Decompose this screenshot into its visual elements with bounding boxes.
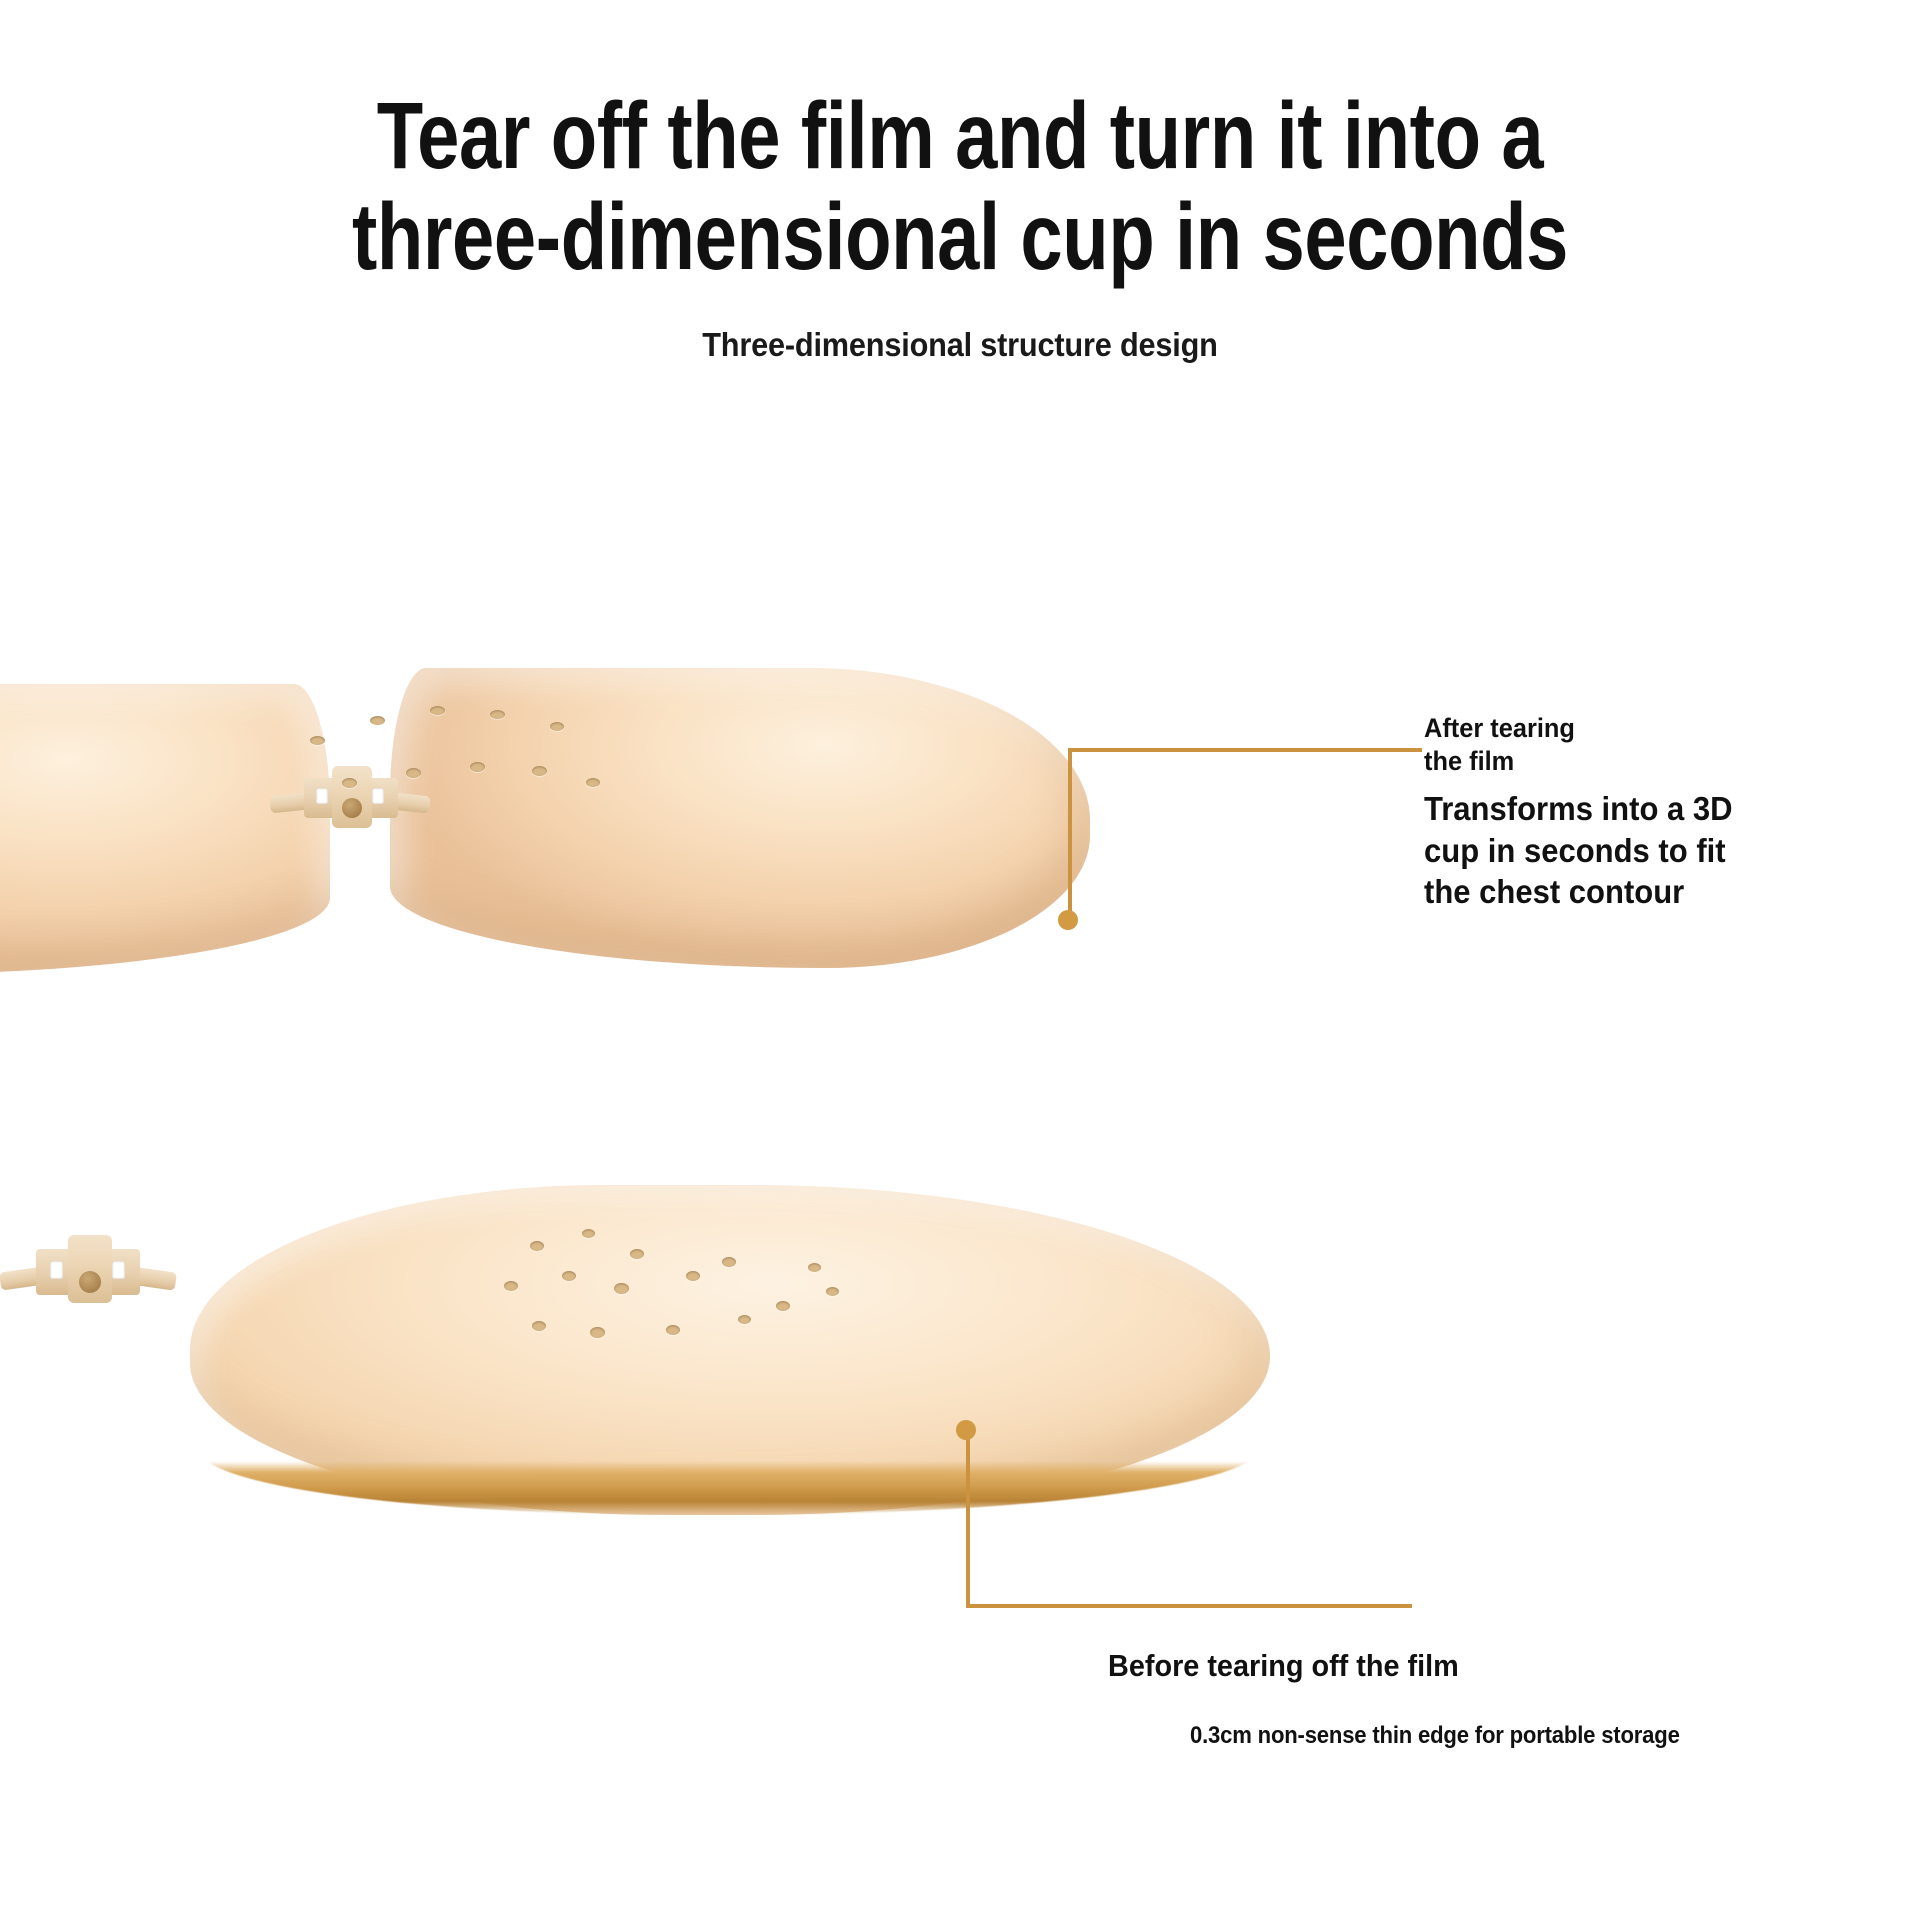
front-closure-clasp-bottom: [0, 1233, 175, 1333]
clasp-barrel: [332, 766, 372, 828]
perforation-hole: [532, 1321, 546, 1331]
clasp-slot-left: [316, 788, 328, 804]
clasp-pivot-hole: [342, 798, 362, 818]
perforation-hole: [504, 1281, 518, 1291]
perforation-hole: [776, 1301, 790, 1311]
perforation-hole: [550, 722, 564, 731]
perforation-hole: [470, 762, 485, 772]
leader-line-top-horizontal: [1068, 748, 1422, 752]
page-subtitle: Three-dimensional structure design: [67, 326, 1853, 364]
perforation-hole: [630, 1249, 644, 1259]
perforation-hole: [808, 1263, 821, 1272]
leader-line-bottom-vertical: [966, 1432, 970, 1608]
product-feature-graphic: Tear off the film and turn it into a thr…: [0, 0, 1920, 1920]
pad-right-film-edge: [200, 1403, 1260, 1515]
callout-top-eyebrow: After tearing the film: [1424, 712, 1734, 778]
perforation-hole: [582, 1229, 595, 1238]
leader-line-top-vertical: [1068, 748, 1072, 924]
product-bottom-assembly-flat-pad: [0, 1175, 1350, 1565]
perforation-hole: [590, 1327, 605, 1338]
product-top-assembly-3d-cup: [0, 650, 1130, 980]
page-title: Tear off the film and turn it into a thr…: [192, 86, 1728, 287]
perforation-hole: [738, 1315, 751, 1324]
perforation-hole: [370, 716, 385, 725]
callout-bottom-label: Before tearing off the film: [1108, 1648, 1459, 1684]
perforation-hole: [614, 1283, 629, 1294]
perforation-hole: [722, 1257, 736, 1267]
leader-dot-top: [1058, 910, 1078, 930]
perforation-hole: [666, 1325, 680, 1335]
perforation-hole: [586, 778, 600, 787]
perforation-hole: [310, 736, 325, 745]
perforation-hole: [826, 1287, 839, 1296]
leader-dot-bottom: [956, 1420, 976, 1440]
leader-line-bottom-horizontal: [966, 1604, 1412, 1608]
clasp-slot-right: [112, 1261, 125, 1279]
perforation-hole: [342, 778, 357, 788]
perforation-hole: [532, 766, 547, 776]
clasp-pivot-hole: [79, 1271, 101, 1293]
perforation-hole: [406, 768, 421, 778]
front-closure-clasp-top: [270, 762, 430, 852]
perforation-hole: [562, 1271, 576, 1281]
perforation-hole: [430, 706, 445, 715]
perforation-hole: [490, 710, 505, 719]
perforation-hole: [686, 1271, 700, 1281]
perforation-hole: [530, 1241, 544, 1251]
callout-bottom-note: 0.3cm non-sense thin edge for portable s…: [1190, 1722, 1680, 1750]
clasp-slot-right: [372, 788, 384, 804]
callout-top-description: Transforms into a 3D cup in seconds to f…: [1424, 788, 1762, 913]
clasp-slot-left: [50, 1261, 63, 1279]
